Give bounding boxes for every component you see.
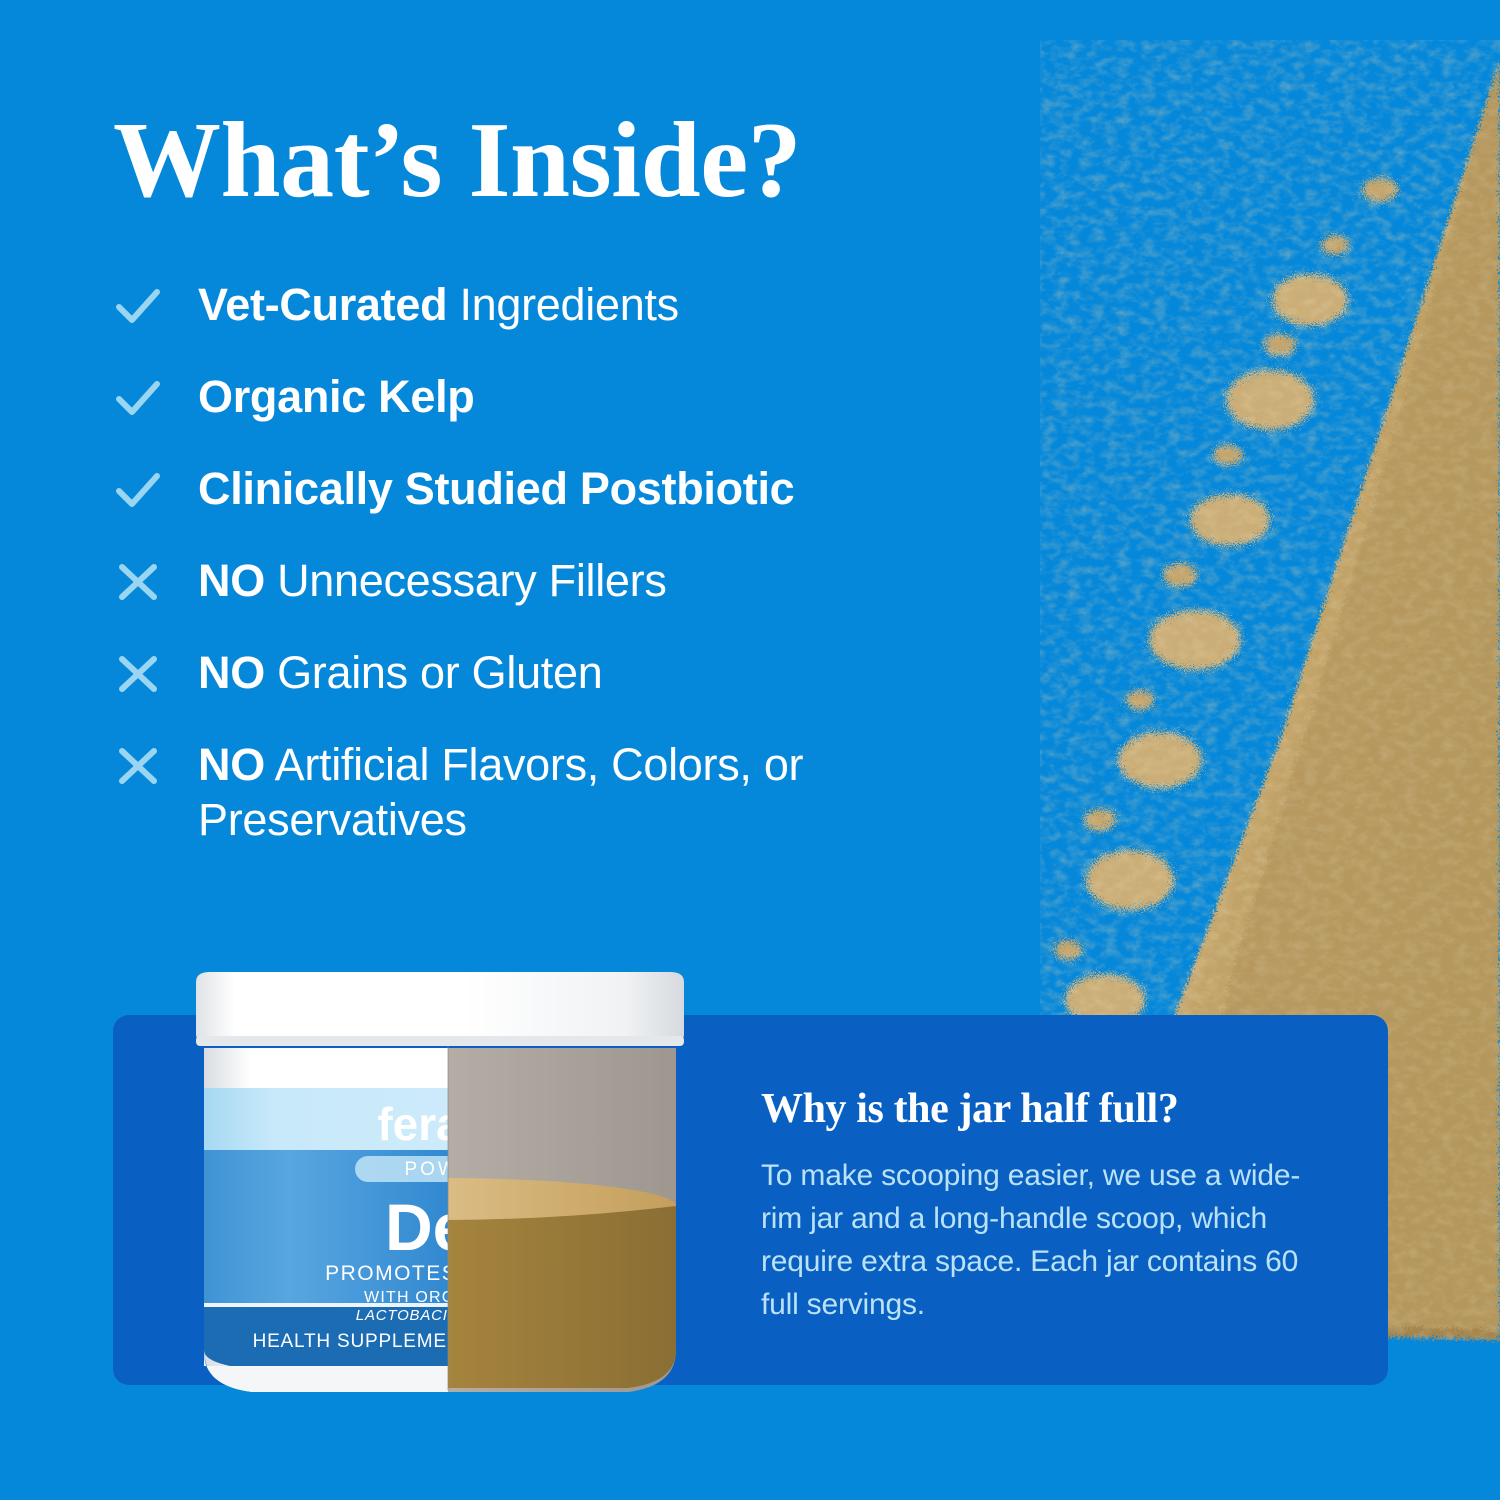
list-item: NO Unnecessary Fillers: [110, 552, 1010, 610]
list-item-keyword: NO: [198, 739, 265, 790]
list-item-label: NO Grains or Gluten: [198, 644, 602, 701]
info-card-body: To make scooping easier, we use a wide-r…: [761, 1155, 1341, 1327]
list-item-label: NO Unnecessary Fillers: [198, 552, 667, 609]
info-card-heading: Why is the jar half full?: [761, 1085, 1341, 1133]
check-icon: [110, 462, 166, 518]
list-item: Vet-Curated Ingredients: [110, 276, 1010, 334]
list-item-label: Organic Kelp: [198, 368, 474, 425]
check-icon: [110, 370, 166, 426]
list-item-keyword: Vet-Curated: [198, 279, 447, 330]
page-title: What’s Inside?: [113, 104, 801, 217]
check-icon: [110, 278, 166, 334]
list-item-rest: Grains or Gluten: [265, 647, 603, 698]
list-item-label: Clinically Studied Postbiotic: [198, 460, 794, 517]
cross-icon: [110, 738, 166, 794]
feature-list: Vet-Curated Ingredients Organic Kelp Cli…: [110, 276, 1010, 882]
list-item-label: NO Artificial Flavors, Colors, or Preser…: [198, 736, 958, 848]
cross-icon: [110, 554, 166, 610]
list-item-rest: Unnecessary Fillers: [265, 555, 667, 606]
list-item: Organic Kelp: [110, 368, 1010, 426]
list-item-keyword: Organic Kelp: [198, 371, 474, 422]
info-card-text: Why is the jar half full? To make scoopi…: [761, 1085, 1341, 1327]
list-item-label: Vet-Curated Ingredients: [198, 276, 679, 333]
list-item: NO Grains or Gluten: [110, 644, 1010, 702]
list-item: Clinically Studied Postbiotic: [110, 460, 1010, 518]
list-item: NO Artificial Flavors, Colors, or Preser…: [110, 736, 1010, 848]
list-item-keyword: Clinically Studied Postbiotic: [198, 463, 794, 514]
list-item-rest: Ingredients: [447, 279, 679, 330]
list-item-rest: Artificial Flavors, Colors, or Preservat…: [198, 739, 803, 845]
product-jar: fera p POWD Der PROMOTES HEALTH WITH ORG…: [190, 968, 690, 1410]
list-item-keyword: NO: [198, 647, 265, 698]
list-item-keyword: NO: [198, 555, 265, 606]
jar-cut-seam: [447, 1046, 449, 1390]
cross-icon: [110, 646, 166, 702]
